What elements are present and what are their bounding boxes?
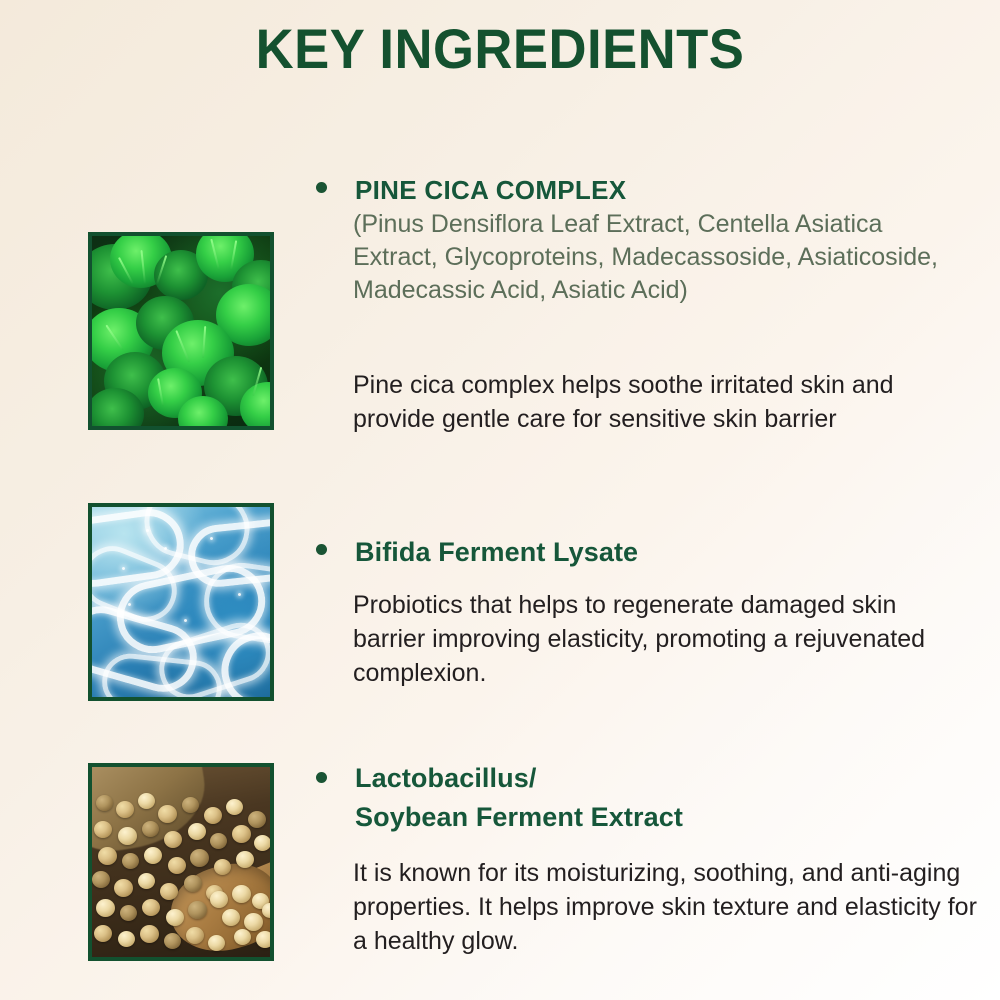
ingredient-description-pine: Pine cica complex helps soothe irritated…: [353, 368, 953, 436]
ingredient-description-bifida: Probiotics that helps to regenerate dama…: [353, 588, 963, 690]
page-title: KEY INGREDIENTS: [30, 18, 970, 80]
ingredient-image-pine: [88, 232, 274, 430]
key-ingredients-poster: KEY INGREDIENTS: [0, 0, 1000, 1000]
ingredient-heading-soy-line1: Lactobacillus/: [355, 762, 955, 794]
ingredient-description-soy: It is known for its moisturizing, soothi…: [353, 856, 978, 958]
ingredient-heading-soy-line2: Soybean Ferment Extract: [355, 801, 955, 833]
bullet-marker: [316, 182, 327, 193]
ingredient-image-soy: [88, 763, 274, 961]
ingredient-parenthetical-pine: (Pinus Densiflora Leaf Extract, Centella…: [353, 208, 965, 307]
bullet-marker: [316, 772, 327, 783]
ingredient-heading-bifida: Bifida Ferment Lysate: [355, 536, 955, 568]
ingredient-heading-pine: PINE CICA COMPLEX: [355, 174, 955, 206]
ingredient-image-bifida: [88, 503, 274, 701]
bullet-marker: [316, 544, 327, 555]
